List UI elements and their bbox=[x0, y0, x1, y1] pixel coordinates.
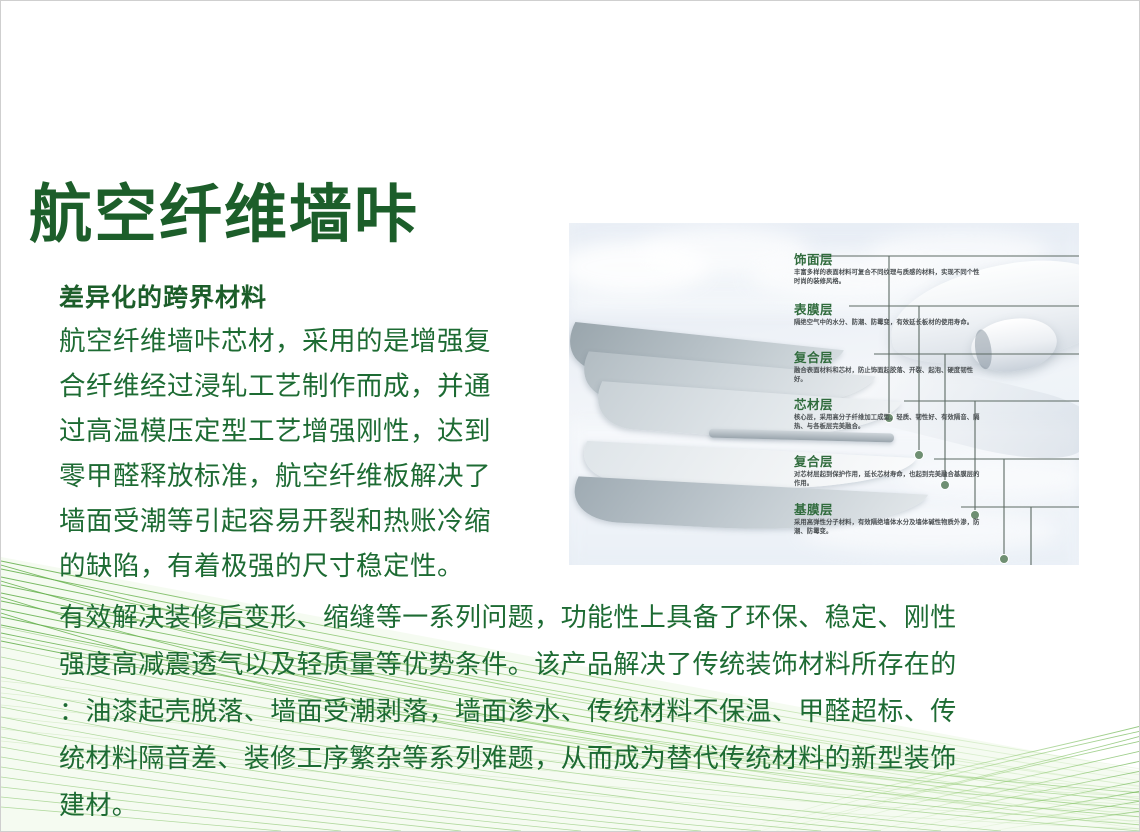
layer-label-desc: 采用高弹性分子材料，有效隔绝墙体水分及墙体碱性物质外渗，防潮、防霉变。 bbox=[794, 519, 984, 536]
layer-label-title: 芯材层 bbox=[794, 398, 984, 412]
lead-paragraph: 航空纤维墙咔芯材，采用的是增强复 合纤维经过浸轧工艺制作而成，并通 过高温模压定… bbox=[59, 319, 559, 589]
layer-label-composite-upper: 复合层 融合表面材料和芯材，防止饰面起胶落、开裂、起泡、硬度韧性好。 bbox=[794, 351, 984, 384]
layer-label-list: 饰面层 丰富多样的表面材料可复合不同纹理与质感的材料，实现不同个性时尚的装修风格… bbox=[794, 223, 1094, 565]
layer-label-desc: 丰富多样的表面材料可复合不同纹理与质感的材料，实现不同个性时尚的装修风格。 bbox=[794, 269, 984, 286]
layer-label-finish: 饰面层 丰富多样的表面材料可复合不同纹理与质感的材料，实现不同个性时尚的装修风格… bbox=[794, 253, 984, 286]
layer-label-desc: 隔绝空气中的水分、防潮、防霉变，有效延长板材的使用寿命。 bbox=[794, 319, 984, 328]
body-line: 有效解决装修后变形、缩缝等一系列问题，功能性上具备了环保、稳定、刚性 bbox=[59, 594, 1099, 641]
layer-label-title: 基膜层 bbox=[794, 503, 984, 517]
body-line: 建材。 bbox=[59, 782, 1099, 829]
layer-label-title: 饰面层 bbox=[794, 253, 984, 267]
layer-label-desc: 融合表面材料和芯材，防止饰面起胶落、开裂、起泡、硬度韧性好。 bbox=[794, 367, 984, 384]
lead-line: 零甲醛释放标准，航空纤维板解决了 bbox=[59, 454, 559, 499]
layer-label-title: 表膜层 bbox=[794, 303, 984, 317]
layer-label-core: 芯材层 核心层，采用高分子纤维加工成型、轻质、韧性好、有效隔音、隔热、与各板层完… bbox=[794, 398, 984, 431]
layer-label-composite-lower: 复合层 对芯材层起到保护作用，延长芯材寿命，也起到完美融合基膜层的作用。 bbox=[794, 455, 984, 488]
lead-line: 墙面受潮等引起容易开裂和热账冷缩 bbox=[59, 499, 559, 544]
body-line: ：油漆起壳脱落、墙面受潮剥落，墙面渗水、传统材料不保温、甲醛超标、传 bbox=[59, 688, 1099, 735]
lead-line: 合纤维经过浸轧工艺制作而成，并通 bbox=[59, 364, 559, 409]
lead-line: 的缺陷，有着极强的尺寸稳定性。 bbox=[59, 544, 559, 589]
layer-label-title: 复合层 bbox=[794, 455, 984, 469]
poster-canvas: 航空纤维墙咔 差异化的跨界材料 航空纤维墙咔芯材，采用的是增强复 合纤维经过浸轧… bbox=[0, 0, 1140, 832]
lead-line: 过高温模压定型工艺增强刚性，达到 bbox=[59, 409, 559, 454]
lead-line: 航空纤维墙咔芯材，采用的是增强复 bbox=[59, 319, 559, 364]
page-subtitle: 差异化的跨界材料 bbox=[59, 278, 267, 314]
body-paragraph: 有效解决装修后变形、缩缝等一系列问题，功能性上具备了环保、稳定、刚性 强度高减震… bbox=[59, 594, 1099, 829]
layer-label-desc: 对芯材层起到保护作用，延长芯材寿命，也起到完美融合基膜层的作用。 bbox=[794, 471, 984, 488]
layer-label-desc: 核心层，采用高分子纤维加工成型、轻质、韧性好、有效隔音、隔热、与各板层完美融合。 bbox=[794, 414, 984, 431]
layer-label-base-film: 基膜层 采用高弹性分子材料，有效隔绝墙体水分及墙体碱性物质外渗，防潮、防霉变。 bbox=[794, 503, 984, 536]
body-line: 统材料隔音差、装修工序繁杂等系列难题，从而成为替代传统材料的新型装饰 bbox=[59, 735, 1099, 782]
body-line: 强度高减震透气以及轻质量等优势条件。该产品解决了传统装饰材料所存在的 bbox=[59, 641, 1099, 688]
layer-label-title: 复合层 bbox=[794, 351, 984, 365]
layer-label-surface-film: 表膜层 隔绝空气中的水分、防潮、防霉变，有效延长板材的使用寿命。 bbox=[794, 303, 984, 328]
page-title: 航空纤维墙咔 bbox=[29, 184, 419, 247]
